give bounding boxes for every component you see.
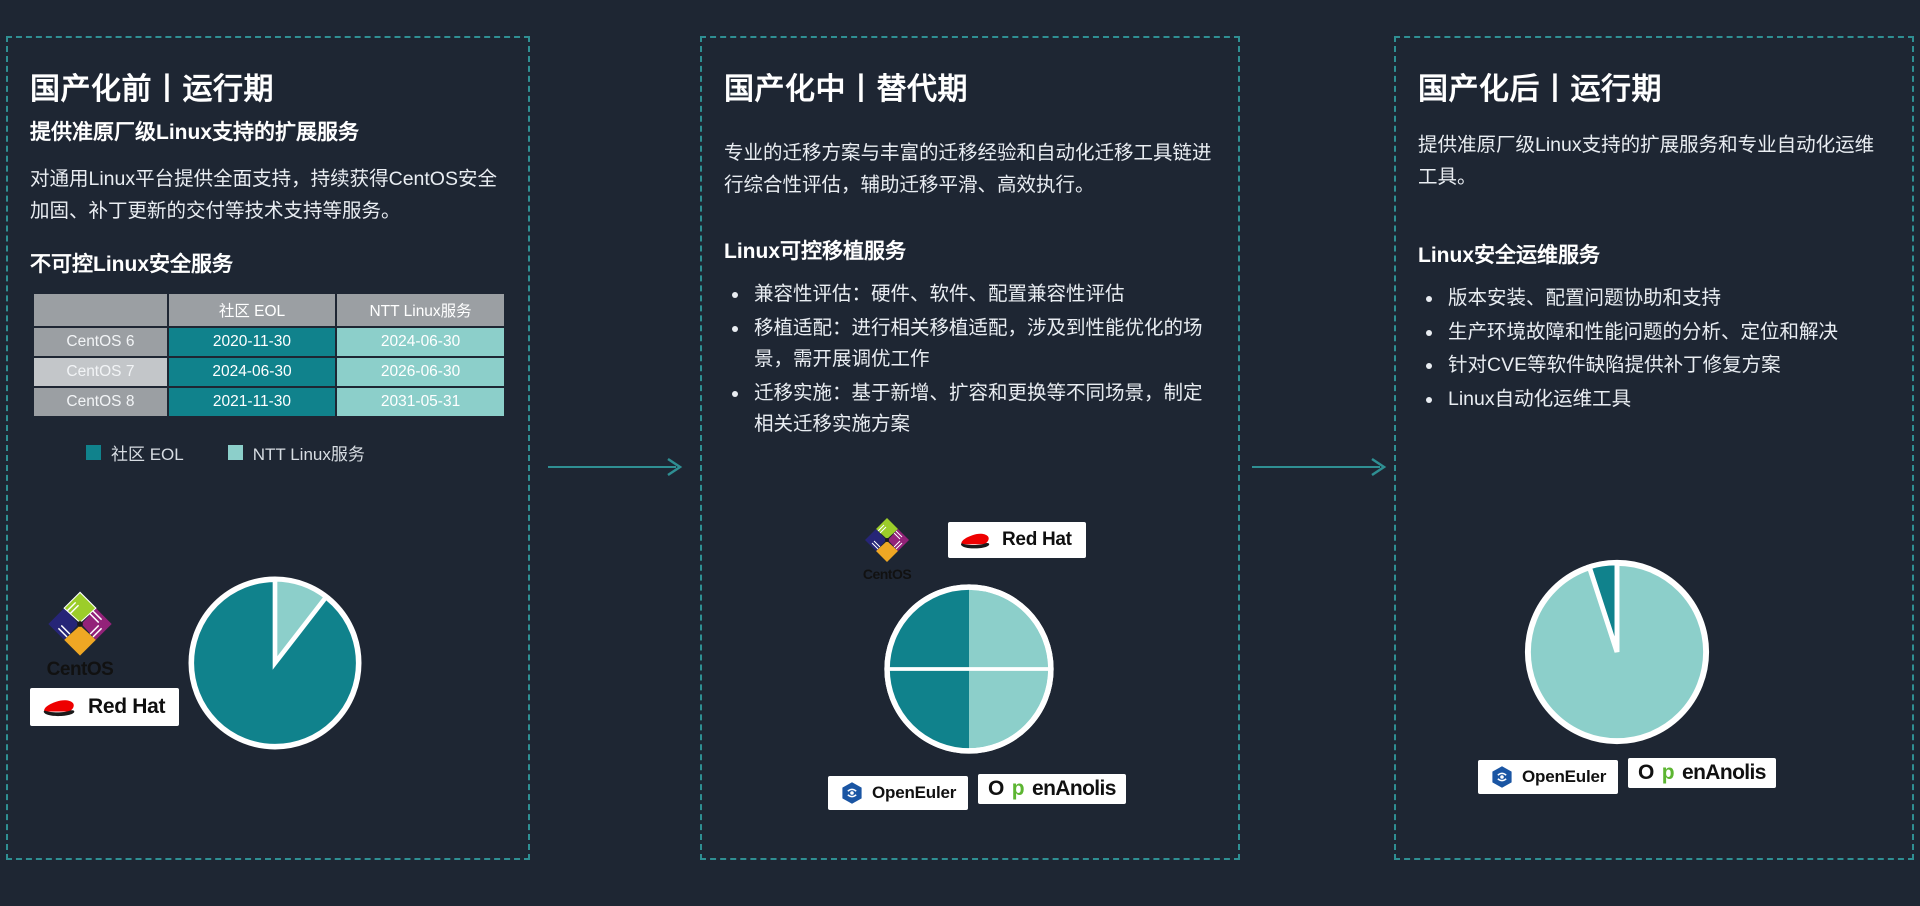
openanolis-wordmark-rest: enAnolis [1032, 777, 1116, 801]
list-item: 迁移实施：基于新增、扩容和更换等不同场景，制定相关迁移实施方案 [724, 378, 1216, 441]
panel-before-subtitle: 提供准原厂级Linux支持的扩展服务 [30, 118, 506, 148]
legend-item-eol: 社区 EOL [86, 440, 184, 465]
table-cell-os: CentOS 6 [34, 328, 167, 356]
openanolis-wordmark-o: O [1638, 761, 1654, 785]
openeuler-mark-icon [1490, 765, 1514, 789]
panel-after-body: 提供准原厂级Linux支持的扩展服务和专业自动化运维工具。 [1418, 130, 1890, 193]
openanolis-logo: OpenAnolis [978, 774, 1126, 804]
openeuler-logo: OpenEuler [1478, 760, 1618, 794]
centos-logo: CentOS [858, 515, 916, 582]
table-cell-eol: 2024-06-30 [169, 358, 335, 386]
centos-mark-icon [862, 515, 912, 565]
openeuler-wordmark: OpenEuler [872, 783, 956, 803]
panel-during-body: 专业的迁移方案与丰富的迁移经验和自动化迁移工具链进行综合性评估，辅助迁移平滑、高… [724, 138, 1216, 201]
arrow-during-to-after [1252, 455, 1392, 479]
openanolis-wordmark-rest: enAnolis [1682, 761, 1766, 785]
slide-canvas: 国产化前丨运行期 提供准原厂级Linux支持的扩展服务 对通用Linux平台提供… [0, 0, 1920, 906]
panel-before-body: 对通用Linux平台提供全面支持，持续获得CentOS安全加固、补丁更新的交付等… [30, 164, 506, 227]
table-cell-os: CentOS 7 [34, 358, 167, 386]
table-header-blank [34, 294, 167, 326]
openanolis-wordmark-p: p [1012, 777, 1024, 801]
list-item: 兼容性评估：硬件、软件、配置兼容性评估 [724, 279, 1216, 311]
legend-swatch-icon [86, 445, 101, 460]
table-cell-eol: 2020-11-30 [169, 328, 335, 356]
redhat-wordmark: Red Hat [1002, 529, 1072, 551]
openanolis-logo: OpenAnolis [1628, 758, 1776, 788]
legend-swatch-icon [228, 445, 243, 460]
list-item: 版本安装、配置问题协助和支持 [1418, 283, 1890, 315]
table-cell-os: CentOS 8 [34, 388, 167, 416]
list-item: 移植适配：进行相关移植适配，涉及到性能优化的场景，需开展调优工作 [724, 313, 1216, 376]
panel-after-section-heading: Linux安全运维服务 [1418, 239, 1890, 269]
pie-chart-before [182, 570, 368, 756]
arrow-before-to-during [548, 455, 688, 479]
redhat-wordmark: Red Hat [88, 695, 165, 719]
table-cell-ntt: 2031-05-31 [337, 388, 504, 416]
table-header-eol: 社区 EOL [169, 294, 335, 326]
table-cell-ntt: 2024-06-30 [337, 328, 504, 356]
table-cell-ntt: 2026-06-30 [337, 358, 504, 386]
table-header-row: 社区 EOL NTT Linux服务 [34, 294, 504, 326]
list-item: Linux自动化运维工具 [1418, 384, 1890, 416]
panel-after-bullet-list: 版本安装、配置问题协助和支持 生产环境故障和性能问题的分析、定位和解决 针对CV… [1418, 283, 1890, 415]
openanolis-wordmark-o: O [988, 777, 1004, 801]
centos-mark-icon [44, 588, 116, 660]
chart-legend: 社区 EOL NTT Linux服务 [86, 440, 506, 465]
panel-during-title: 国产化中丨替代期 [724, 64, 1216, 108]
openeuler-mark-icon [840, 781, 864, 805]
redhat-fedora-icon [40, 694, 80, 720]
table-row: CentOS 8 2021-11-30 2031-05-31 [34, 388, 504, 416]
centos-wordmark: CentOS [38, 659, 122, 681]
table-row: CentOS 7 2024-06-30 2026-06-30 [34, 358, 504, 386]
panel-during-section-heading: Linux可控移植服务 [724, 235, 1216, 265]
redhat-logo: Red Hat [948, 522, 1086, 558]
panel-after-title: 国产化后丨运行期 [1418, 64, 1890, 108]
legend-label: 社区 EOL [111, 440, 184, 465]
legend-label: NTT Linux服务 [253, 440, 365, 465]
panel-before-section-heading: 不可控Linux安全服务 [30, 248, 506, 278]
table-header-ntt: NTT Linux服务 [337, 294, 504, 326]
panel-during-bullet-list: 兼容性评估：硬件、软件、配置兼容性评估 移植适配：进行相关移植适配，涉及到性能优… [724, 279, 1216, 441]
openanolis-wordmark-p: p [1662, 761, 1674, 785]
centos-eol-table: 社区 EOL NTT Linux服务 CentOS 6 2020-11-30 2… [32, 292, 506, 418]
redhat-logo: Red Hat [30, 688, 179, 726]
list-item: 针对CVE等软件缺陷提供补丁修复方案 [1418, 350, 1890, 382]
panel-before-title: 国产化前丨运行期 [30, 64, 506, 108]
openeuler-wordmark: OpenEuler [1522, 767, 1606, 787]
table-row: CentOS 6 2020-11-30 2024-06-30 [34, 328, 504, 356]
centos-logo: CentOS [38, 588, 122, 681]
legend-item-ntt: NTT Linux服务 [228, 440, 365, 465]
table-cell-eol: 2021-11-30 [169, 388, 335, 416]
openeuler-logo: OpenEuler [828, 776, 968, 810]
list-item: 生产环境故障和性能问题的分析、定位和解决 [1418, 317, 1890, 349]
pie-chart-during [878, 578, 1060, 760]
redhat-fedora-icon [958, 528, 994, 552]
pie-chart-after [1518, 553, 1716, 751]
